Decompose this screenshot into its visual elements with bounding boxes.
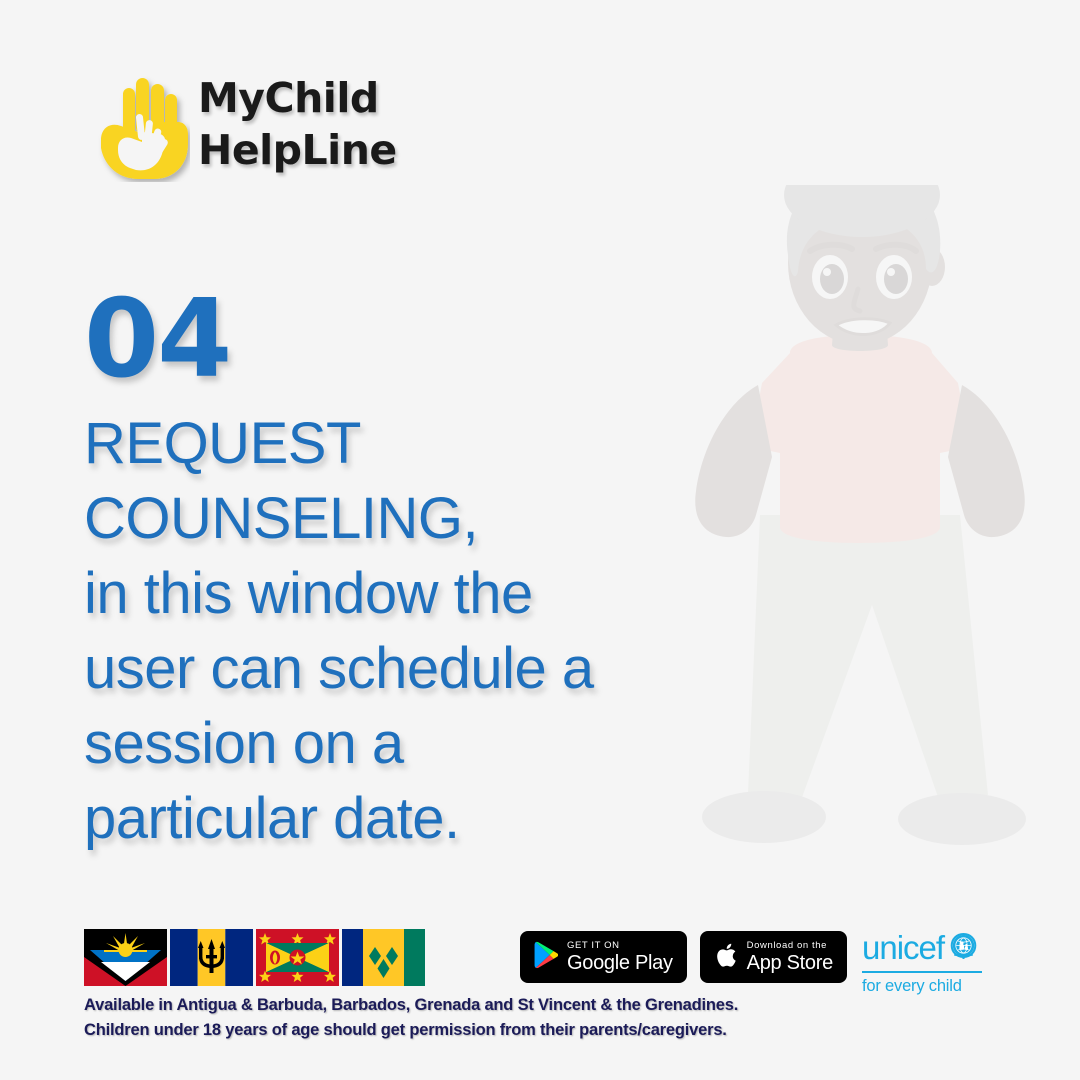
headline-body-line-3: session on a <box>84 706 644 781</box>
flag-antigua-and-barbuda <box>84 929 167 986</box>
flag-grenada <box>256 929 339 986</box>
footer: Available in Antigua & Barbuda, Barbados… <box>0 915 1080 1080</box>
flag-barbados <box>170 929 253 986</box>
permission-line: Children under 18 years of age should ge… <box>84 1018 738 1043</box>
headline-caps-line-2: COUNSELING, <box>84 481 644 556</box>
app-store-badges: GET IT ON Google Play Download on the Ap… <box>520 931 847 983</box>
availability-line: Available in Antigua & Barbuda, Barbados… <box>84 993 738 1018</box>
apple-icon <box>714 941 738 974</box>
google-play-icon <box>534 941 558 974</box>
google-play-badge[interactable]: GET IT ON Google Play <box>520 931 687 983</box>
unicef-globe-emblem <box>949 931 978 965</box>
helping-hand-icon <box>98 70 190 182</box>
headline-body-line-4: particular date. <box>84 781 644 856</box>
unicef-tagline: for every child <box>862 977 1002 996</box>
unicef-wordmark: unicef <box>862 931 944 965</box>
mychild-helpline-logo: MyChild HelpLine <box>98 62 428 187</box>
headline-body-line-2: user can schedule a <box>84 631 644 706</box>
logo-wordmark: MyChild HelpLine <box>198 72 438 176</box>
flag-st-vincent-and-the-grenadines <box>342 929 425 986</box>
logo-line-1: MyChild <box>198 72 438 124</box>
logo-line-2: HelpLine <box>198 124 438 176</box>
unicef-divider <box>862 971 982 973</box>
country-flags <box>84 929 425 986</box>
unicef-wordmark-row: unicef <box>862 931 1002 965</box>
boy-character-illustration <box>640 185 1080 895</box>
headline-text: REQUEST COUNSELING, in this window the u… <box>84 406 644 856</box>
app-store-badge[interactable]: Download on the App Store <box>700 931 847 983</box>
google-play-big-label: Google Play <box>567 953 673 973</box>
google-play-small-label: GET IT ON <box>567 941 673 951</box>
headline-block: 04 REQUEST COUNSELING, in this window th… <box>84 292 644 856</box>
app-store-small-label: Download on the <box>747 941 833 951</box>
app-store-labels: Download on the App Store <box>747 941 833 974</box>
step-number: 04 <box>84 292 644 388</box>
app-store-big-label: App Store <box>747 953 833 973</box>
headline-caps-line-1: REQUEST <box>84 406 644 481</box>
unicef-logo: unicef <box>862 931 1002 996</box>
footer-disclaimer: Available in Antigua & Barbuda, Barbados… <box>84 993 738 1043</box>
poster-canvas: MyChild HelpLine <box>0 0 1080 1080</box>
headline-body-line-1: in this window the <box>84 556 644 631</box>
google-play-labels: GET IT ON Google Play <box>567 941 673 974</box>
